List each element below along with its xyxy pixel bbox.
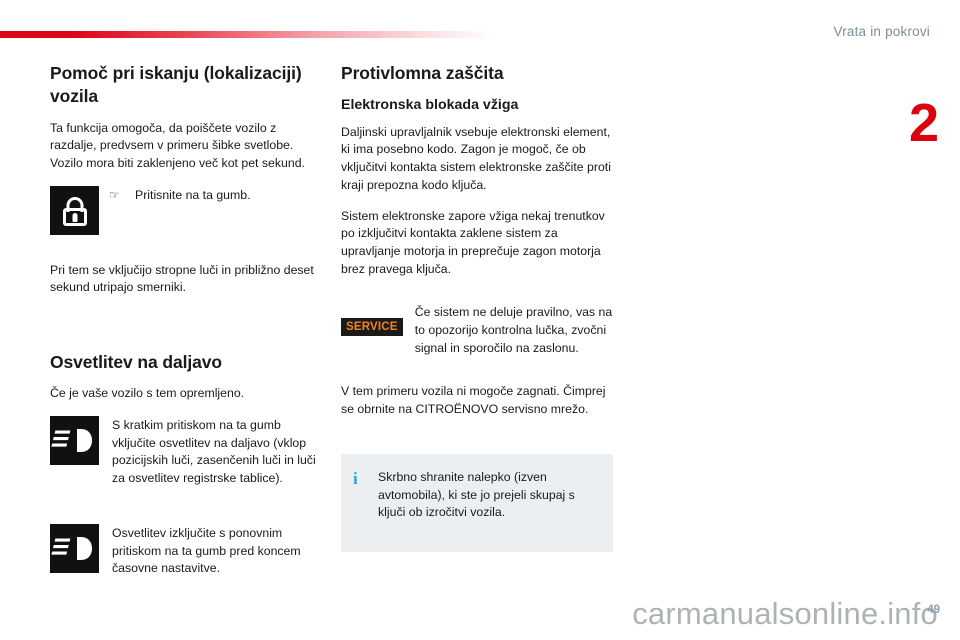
- lock-row-text: ☞Pritisnite na ta gumb.: [99, 186, 251, 205]
- right-column: Protivlomna zaščita Elektronska blokada …: [341, 62, 613, 552]
- lock-button-row: ☞Pritisnite na ta gumb.: [50, 186, 322, 235]
- remote-lighting-off-row: Osvetlitev izključite s ponovnim pritisk…: [50, 524, 322, 578]
- remote-lighting-on-row: S kratkim pritiskom na ta gumb vključite…: [50, 416, 322, 488]
- after-lock-paragraph: Pri tem se vključijo stropne luči in pri…: [50, 262, 322, 297]
- service-badge: SERVICE: [341, 318, 403, 336]
- headlight-icon: [50, 416, 99, 465]
- headlight-icon: [50, 524, 99, 573]
- info-note-box: i Skrbno shranite nalepko (izven avtomob…: [341, 454, 613, 552]
- antitheft-title: Protivlomna zaščita: [341, 62, 613, 85]
- header-accent-rule: [0, 31, 490, 38]
- padlock-keyhole-icon: [72, 213, 77, 222]
- page-number: 49: [927, 604, 940, 616]
- remote-lighting-off-text: Osvetlitev izključite s ponovnim pritisk…: [99, 524, 322, 578]
- left-column: Pomoč pri iskanju (lokalizaciji) vozila …: [50, 62, 322, 592]
- padlock-icon: [50, 186, 99, 235]
- remote-lighting-on-text: S kratkim pritiskom na ta gumb vključite…: [99, 416, 322, 488]
- immobiliser-paragraph-2: Sistem elektronske zapore vžiga nekaj tr…: [341, 208, 613, 279]
- immobiliser-paragraph-1: Daljinski upravljalnik vsebuje elektrons…: [341, 124, 613, 195]
- intro-paragraph: Ta funkcija omogoča, da poiščete vozilo …: [50, 120, 322, 173]
- chapter-number: 2: [909, 96, 938, 150]
- info-icon: i: [353, 469, 364, 487]
- pointing-hand-icon: ☞: [109, 187, 135, 204]
- immobiliser-subtitle: Elektronska blokada vžiga: [341, 96, 613, 114]
- service-note-text: Če sistem ne deluje pravilno, vas na to …: [403, 304, 613, 357]
- header-chapter-title: Vrata in pokrovi: [834, 24, 931, 39]
- remote-lighting-intro: Če je vaše vozilo s tem opremljeno.: [50, 385, 322, 403]
- page-title: Pomoč pri iskanju (lokalizaciji) vozila: [50, 62, 322, 109]
- site-watermark: carmanualsonline.info: [632, 596, 938, 632]
- immobiliser-paragraph-3: V tem primeru vozila ni mogoče zagnati. …: [341, 383, 613, 418]
- info-note-text: Skrbno shranite nalepko (izven avtomobil…: [364, 469, 597, 522]
- page-header: Vrata in pokrovi: [0, 0, 960, 52]
- lock-row-label: Pritisnite na ta gumb.: [135, 188, 251, 202]
- remote-lighting-title: Osvetlitev na daljavo: [50, 351, 322, 374]
- service-note-row: SERVICE Če sistem ne deluje pravilno, va…: [341, 304, 613, 357]
